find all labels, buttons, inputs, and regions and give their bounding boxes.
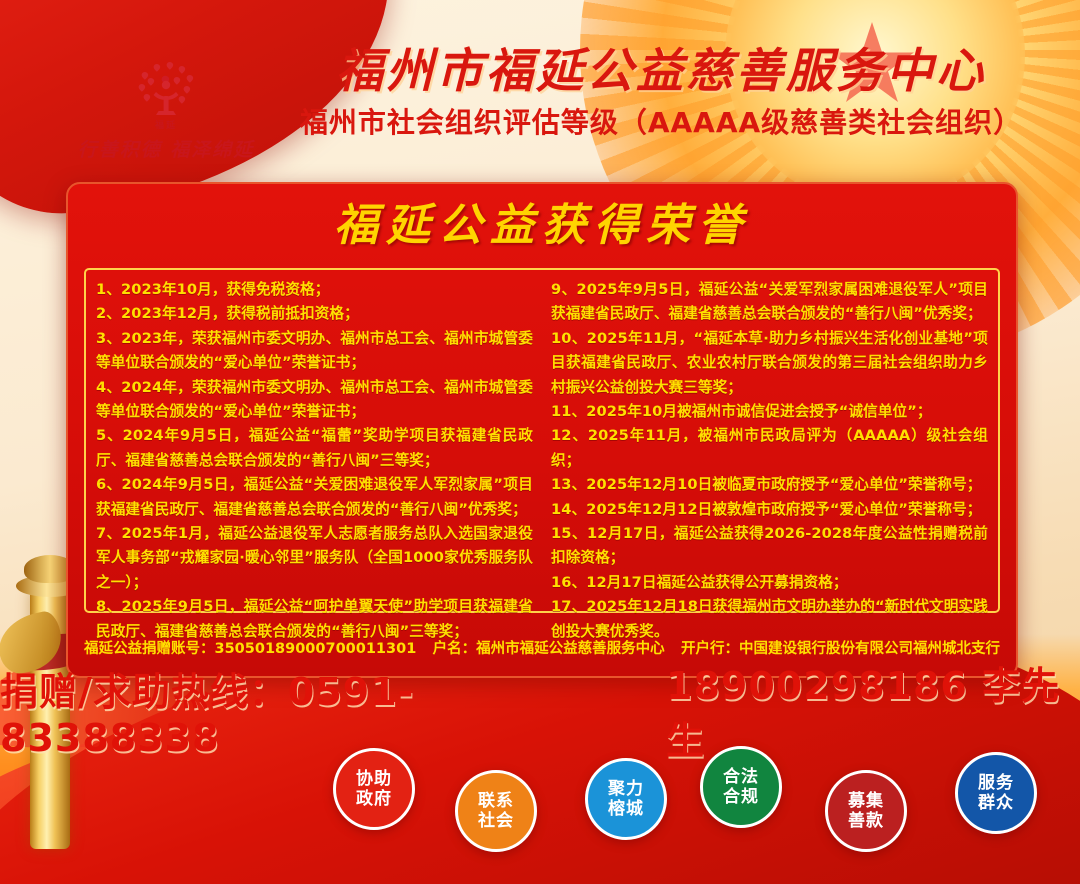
page-title: 福州市福延公益慈善服务中心 [266,44,1056,100]
page-subtitle: 福州市社会组织评估等级（AAAAA级慈善类社会组织） [266,106,1056,140]
honors-list-right: 9、2025年9月5日，福延公益“关爱军烈家属困难退役军人”项目获福建省民政厅、… [551,278,988,644]
badge-legal-compliant[interactable]: 合法合规 [700,746,782,828]
organization-logo: 福延 行善积德 福泽绵延 [66,44,266,162]
poster-header: 福延 行善积德 福泽绵延 福州市福延公益慈善服务中心 福州市社会组织评估等级（A… [0,0,1080,178]
list-item: 11、2025年10月被福州市诚信促进会授予“诚信单位”； [551,400,988,424]
badge-label: 合法合规 [723,767,759,807]
badge-connect-society[interactable]: 联系社会 [455,770,537,852]
title-block: 福州市福延公益慈善服务中心 福州市社会组织评估等级（AAAAA级慈善类社会组织） [266,44,1056,140]
donation-account-name: 户名：福州市福延公益慈善服务中心 [433,637,665,658]
list-item: 13、2025年12月10日被临夏市政府授予“爱心单位”荣誉称号； [551,473,988,497]
heart-tree-icon [120,44,212,136]
list-item: 6、2024年9月5日，福延公益“关爱困难退役军人军烈家属”项目获福建省民政厅、… [96,473,533,522]
list-item: 5、2024年9月5日，福延公益“福蕾”奖助学项目获福建省民政厅、福建省慈善总会… [96,424,533,473]
donation-account-number: 福延公益捐赠账号：35050189000700011301 [84,637,416,658]
list-item: 4、2024年，荣获福州市委文明办、福州市总工会、福州市城管委等单位联合颁发的“… [96,376,533,425]
badge-label: 联系社会 [478,791,514,831]
list-item: 3、2023年，荣获福州市委文明办、福州市总工会、福州市城管委等单位联合颁发的“… [96,327,533,376]
list-item: 15、12月17日，福延公益获得2026-2028年度公益性捐赠税前扣除资格； [551,522,988,571]
honors-column-right: 9、2025年9月5日，福延公益“关爱军烈家属困难退役军人”项目获福建省民政厅、… [551,278,988,603]
list-item: 7、2025年1月，福延公益退役军人志愿者服务总队入选国家退役军人事务部“戎耀家… [96,522,533,595]
badge-label: 服务群众 [978,773,1014,813]
list-item: 9、2025年9月5日，福延公益“关爱军烈家属困难退役军人”项目获福建省民政厅、… [551,278,988,327]
badge-label: 协助政府 [356,769,392,809]
badge-assist-government[interactable]: 协助政府 [333,748,415,830]
list-item: 2、2023年12月，获得税前抵扣资格； [96,302,533,326]
badge-label: 募集善款 [848,791,884,831]
list-item: 10、2025年11月，“福延本草·助力乡村振兴生活化创业基地”项目获福建省民政… [551,327,988,400]
value-badges: 协助政府 联系社会 聚力榕城 合法合规 募集善款 服务群众 [0,726,1080,876]
list-item: 12、2025年11月，被福州市民政局评为（AAAAA）级社会组织； [551,424,988,473]
honors-column-left: 1、2023年10月，获得免税资格； 2、2023年12月，获得税前抵扣资格； … [96,278,533,603]
badge-serve-public[interactable]: 服务群众 [955,752,1037,834]
logo-mark [120,44,212,124]
honors-list-left: 1、2023年10月，获得免税资格； 2、2023年12月，获得税前抵扣资格； … [96,278,533,644]
honors-panel: 福延公益获得荣誉 1、2023年10月，获得免税资格； 2、2023年12月，获… [66,182,1018,678]
poster-root: 福延 行善积德 福泽绵延 福州市福延公益慈善服务中心 福州市社会组织评估等级（A… [0,0,1080,884]
list-item: 16、12月17日福延公益获得公开募捐资格； [551,571,988,595]
badge-gather-rongcheng[interactable]: 聚力榕城 [585,758,667,840]
honors-list-box: 1、2023年10月，获得免税资格； 2、2023年12月，获得税前抵扣资格； … [84,268,1000,613]
badge-raise-donations[interactable]: 募集善款 [825,770,907,852]
list-item: 14、2025年12月12日被敦煌市政府授予“爱心单位”荣誉称号； [551,498,988,522]
honors-panel-title: 福延公益获得荣誉 [68,200,1016,252]
list-item: 1、2023年10月，获得免税资格； [96,278,533,302]
logo-slogan: 行善积德 福泽绵延 [66,135,266,162]
badge-label: 聚力榕城 [608,779,644,819]
